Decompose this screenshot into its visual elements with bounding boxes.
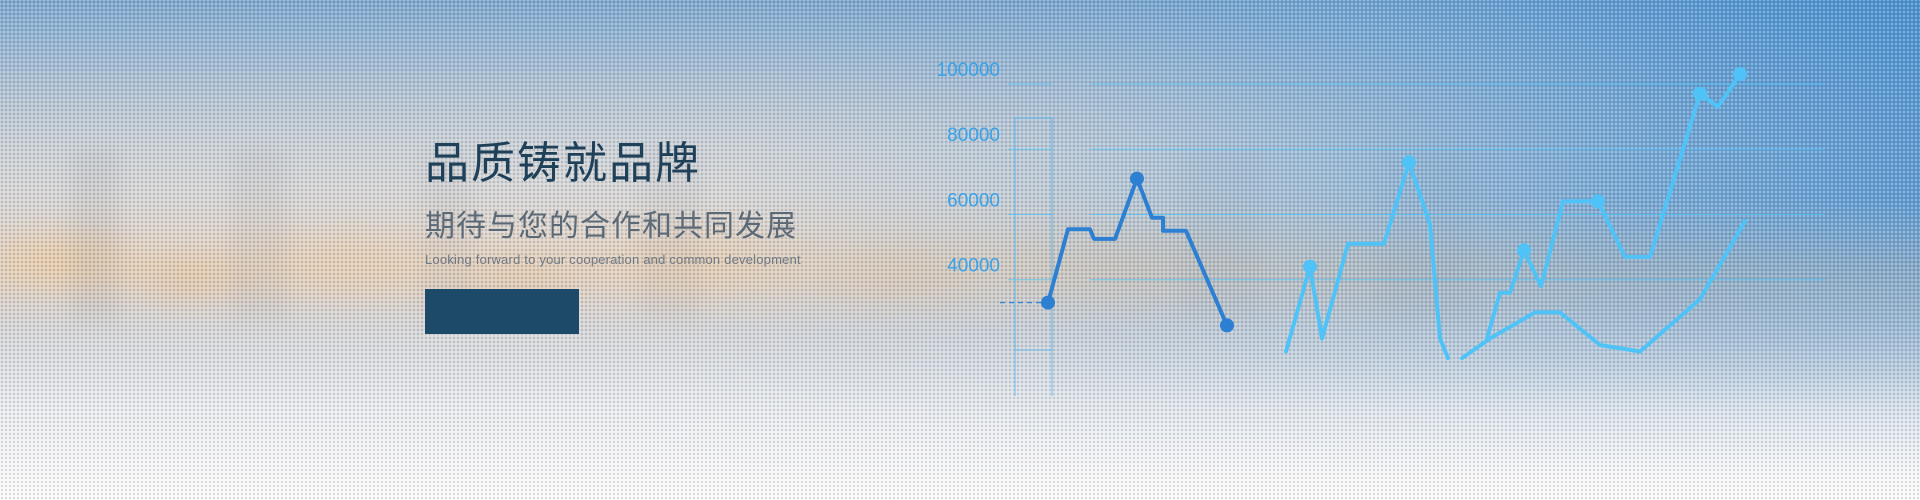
hero-banner: 400006000080000100000 品质铸就品牌 期待与您的合作和共同发…: [0, 0, 1920, 500]
cta-button[interactable]: [425, 289, 579, 334]
subtitle-english: Looking forward to your cooperation and …: [425, 252, 985, 268]
hero-copy: 品质铸就品牌 期待与您的合作和共同发展 Looking forward to y…: [425, 140, 985, 334]
subtitle-chinese: 期待与您的合作和共同发展: [425, 210, 985, 245]
page-title: 品质铸就品牌: [425, 140, 985, 188]
